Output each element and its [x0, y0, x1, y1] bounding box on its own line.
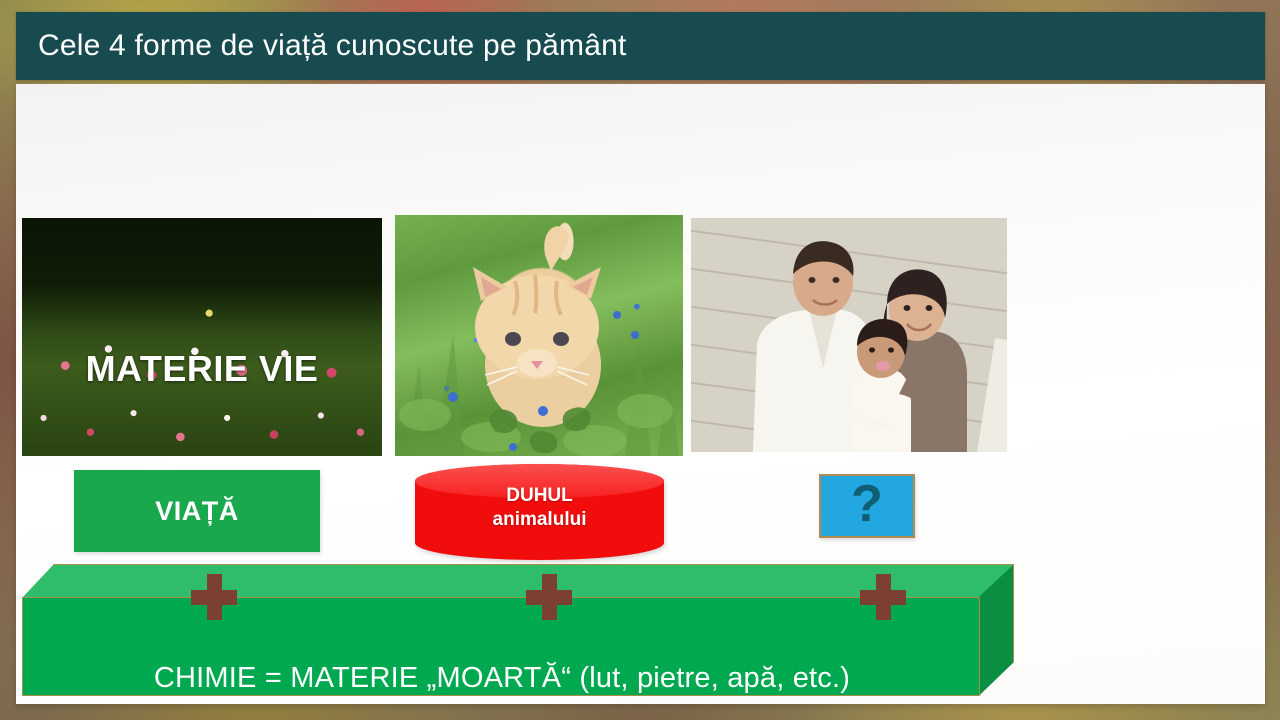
- question-blue-box[interactable]: ?: [819, 474, 915, 538]
- prism-front-face: CHIMIE = MATERIE „MOARTĂ“ (lut, pietre, …: [22, 597, 980, 696]
- slide-root: Cele 4 forme de viață cunoscute pe pămân…: [0, 0, 1280, 720]
- viata-green-box[interactable]: VIAȚĂ: [74, 470, 320, 552]
- family-photo: [691, 218, 1007, 452]
- slide-content-panel: MATERIE VIE: [16, 84, 1265, 704]
- duhul-animalului-cylinder[interactable]: DUHUL animalului: [415, 464, 664, 560]
- viata-label: VIAȚĂ: [155, 496, 239, 527]
- duhul-line-2: animalului: [415, 508, 664, 532]
- duhul-animalului-label: DUHUL animalului: [415, 484, 664, 533]
- slide-title-bar: Cele 4 forme de viață cunoscute pe pămân…: [16, 12, 1265, 80]
- kitten-photo: [395, 215, 683, 456]
- plus-icon: [860, 574, 906, 620]
- plus-icon: [191, 574, 237, 620]
- kitten-illustration: [395, 215, 683, 456]
- chimie-prism[interactable]: CHIMIE = MATERIE „MOARTĂ“ (lut, pietre, …: [22, 564, 1014, 696]
- question-mark-icon: ?: [851, 478, 883, 530]
- family-illustration: [691, 218, 1007, 452]
- flower-field-photo: MATERIE VIE: [22, 218, 382, 456]
- chimie-label: CHIMIE = MATERIE „MOARTĂ“ (lut, pietre, …: [23, 662, 981, 695]
- plus-icon: [526, 574, 572, 620]
- duhul-line-1: DUHUL: [415, 484, 664, 508]
- materie-vie-caption: MATERIE VIE: [22, 348, 382, 390]
- page-title: Cele 4 forme de viață cunoscute pe pămân…: [38, 29, 627, 63]
